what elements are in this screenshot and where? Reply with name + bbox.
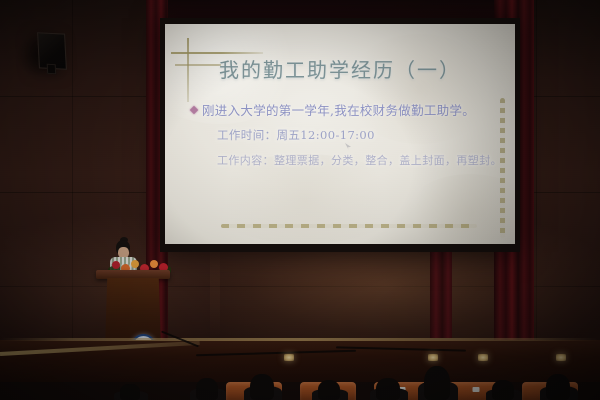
mouse-cursor-icon [345, 143, 351, 150]
audience-member-head [120, 384, 140, 400]
audience-member-head [546, 374, 570, 400]
projection-screen-frame: 我的勤工助学经历（一） 刚进入大学的第一学年,我在校财务做勤工助学。 工作时间：… [160, 18, 520, 252]
audience-member-head [492, 380, 514, 400]
wall-speaker-icon [37, 32, 67, 70]
stage-footlight [478, 354, 488, 361]
auditorium-photograph: 我的勤工助学经历（一） 刚进入大学的第一学年,我在校财务做勤工助学。 工作时间：… [0, 0, 600, 400]
audience-row [0, 368, 600, 400]
audience-member-head [250, 374, 274, 400]
slide-decoration-wave-bottom [221, 224, 477, 228]
slide-decoration-wave-right [500, 98, 505, 238]
lectern-desktop [96, 270, 170, 279]
diamond-bullet-icon [190, 105, 198, 113]
stage-footlight [428, 354, 438, 361]
audience-member-head [196, 378, 218, 400]
slide-bullet-text: 刚进入大学的第一学年,我在校财务做勤工助学。 [202, 100, 475, 119]
slide-work-content-text: 工作内容：整理票据，分类，整合，盖上封面，再塑封。 [217, 152, 502, 168]
audience-member-head [318, 380, 340, 400]
stage-footlight [556, 354, 566, 361]
seat-number-tag [473, 387, 480, 392]
slide-work-time-text: 工作时间：周五12:00-17:00 [217, 127, 375, 143]
slide-title: 我的勤工助学经历（一） [165, 54, 515, 83]
audience-member-head [376, 378, 400, 400]
stage-footlight [284, 354, 294, 361]
projection-screen: 我的勤工助学经历（一） 刚进入大学的第一学年,我在校财务做勤工助学。 工作时间：… [165, 24, 515, 244]
stage-edge-trim [0, 338, 600, 341]
slide-bullet-item: 刚进入大学的第一学年,我在校财务做勤工助学。 [191, 100, 475, 119]
audience-member-head [424, 366, 450, 400]
